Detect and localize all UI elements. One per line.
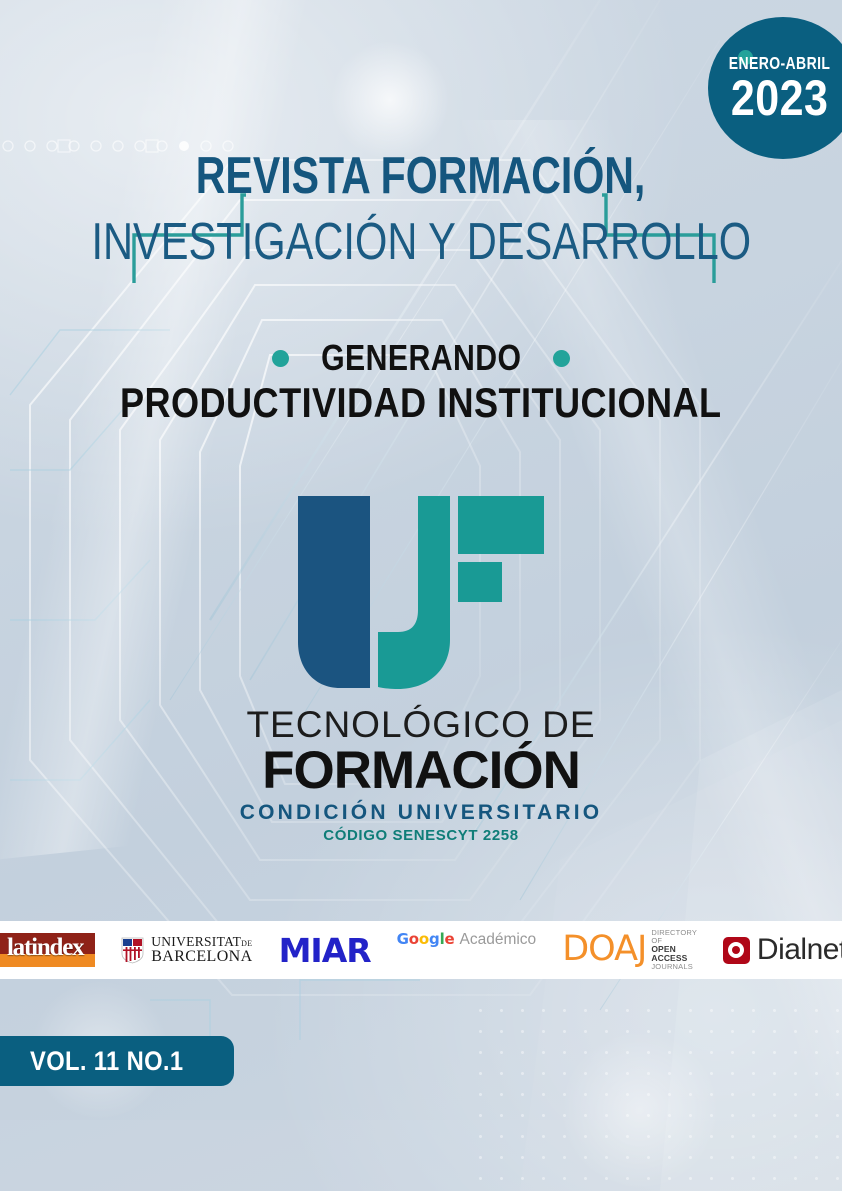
google-wordmark: Google <box>397 930 455 948</box>
masthead: REVISTA FORMACIÓN, INVESTIGACIÓN Y DESAR… <box>0 150 842 295</box>
index-logo-doaj: DOAJ DIRECTORY OF OPEN ACCESS JOURNALS <box>562 930 697 970</box>
tagline-line-1: GENERANDO <box>0 340 842 376</box>
index-logo-latindex: latindex <box>0 930 95 970</box>
journal-title-line-1-text: REVISTA FORMACIÓN, <box>196 150 646 202</box>
journal-title-line-1: REVISTA FORMACIÓN, <box>0 150 842 202</box>
doaj-sub-line-1: DIRECTORY OF <box>651 929 697 945</box>
institution-line-2: FORMACIÓN <box>0 744 842 798</box>
barcelona-wordmark: UNIVERSITATDE BARCELONA <box>151 935 252 965</box>
journal-title-line-2: INVESTIGACIÓN Y DESARROLLO <box>0 216 842 268</box>
institution-line-1: TECNOLÓGICO DE <box>0 706 842 743</box>
dialnet-ring <box>728 942 744 958</box>
tagline-line-2-text: PRODUCTIVIDAD INSTITUCIONAL <box>120 382 722 424</box>
barcelona-de: DE <box>241 939 252 948</box>
doaj-wordmark: DOAJ <box>562 934 646 966</box>
barcelona-crest-icon <box>121 937 144 964</box>
dot-grid-pattern <box>470 1000 842 1191</box>
issue-year: 2023 <box>731 75 828 123</box>
tagline-line-1-text: GENERANDO <box>321 340 521 376</box>
doaj-sub-line-3: JOURNALS <box>651 963 697 971</box>
barcelona-line-1: UNIVERSITAT <box>151 934 241 949</box>
miar-wordmark: MIAR <box>279 934 371 967</box>
volume-issue-text: VOL. 11 NO.1 <box>30 1046 183 1077</box>
latindex-wordmark: latindex <box>0 935 95 960</box>
tagline-line-2: PRODUCTIVIDAD INSTITUCIONAL <box>0 382 842 424</box>
institution-line-4: CÓDIGO SENESCYT 2258 <box>0 828 842 843</box>
journal-cover: ENERO-ABRIL 2023 REVISTA FORMACIÓN, INVE… <box>0 0 842 1191</box>
institution-wordmark: TECNOLÓGICO DE FORMACIÓN CONDICIÓN UNIVE… <box>0 706 842 843</box>
barcelona-line-2: BARCELONA <box>151 949 252 965</box>
institution-line-3: CONDICIÓN UNIVERSITARIO <box>0 802 842 823</box>
index-logo-miar: MIAR <box>279 930 371 970</box>
index-logo-google-academico: Google Académico <box>397 930 537 970</box>
glow-spot-top <box>330 40 450 160</box>
uf-monogram-icon <box>292 492 550 692</box>
bullet-dot-left-icon <box>272 350 289 367</box>
doaj-subtitle: DIRECTORY OF OPEN ACCESS JOURNALS <box>651 929 697 972</box>
index-logo-dialnet: Dialnet <box>723 930 842 970</box>
journal-title-line-2-text: INVESTIGACIÓN Y DESARROLLO <box>91 216 751 268</box>
volume-issue-badge: VOL. 11 NO.1 <box>0 1036 234 1086</box>
academico-label: Académico <box>460 931 537 949</box>
dialnet-mark-icon <box>723 937 750 964</box>
indexing-logos-band: latindex UNIVERSITATDE BARCELONA MIAR <box>0 921 842 979</box>
dialnet-core <box>732 946 740 954</box>
latindex-logo-icon: latindex <box>0 933 95 967</box>
journal-tagline: GENERANDO PRODUCTIVIDAD INSTITUCIONAL <box>0 340 842 424</box>
index-logo-universitat-barcelona: UNIVERSITATDE BARCELONA <box>121 930 252 970</box>
dialnet-wordmark: Dialnet <box>757 935 842 965</box>
bullet-dot-right-icon <box>553 350 570 367</box>
doaj-sub-line-2: OPEN ACCESS <box>651 945 697 963</box>
